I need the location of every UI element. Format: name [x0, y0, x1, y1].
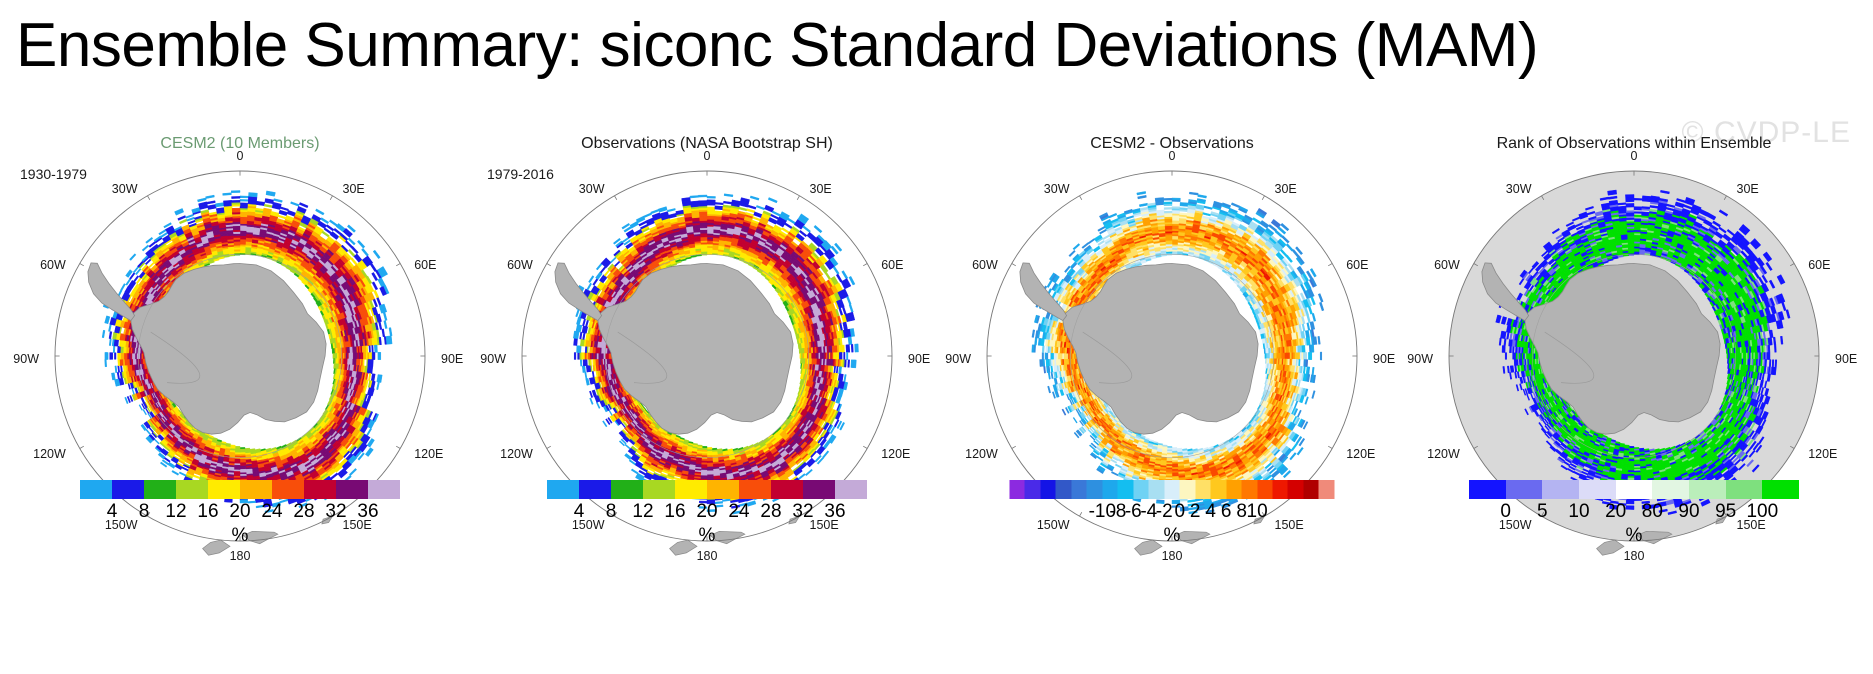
longitude-label: 90E — [441, 352, 463, 366]
longitude-label: 0 — [1169, 149, 1176, 163]
longitude-label: 120E — [1808, 447, 1837, 461]
longitude-label: 90E — [1373, 352, 1395, 366]
graticule-tick — [148, 196, 150, 200]
colorbar-segment — [1257, 480, 1272, 499]
colorbar-segment — [739, 480, 771, 499]
panel-cesm2: CESM2 (10 Members) 1930-1979 030E60E90E1… — [6, 128, 474, 668]
colorbar-segment — [1726, 480, 1763, 499]
graticule-tick — [547, 264, 551, 266]
colorbar-segment — [1506, 480, 1543, 499]
colorbar-segment — [1164, 480, 1179, 499]
colorbar-tick: 100 — [1746, 501, 1778, 523]
colorbar-segment — [1652, 480, 1689, 499]
graticule-tick — [396, 264, 400, 266]
colorbar-segment — [1118, 480, 1133, 499]
colorbar-tick: -4 — [1140, 501, 1157, 523]
colorbar-segment — [1288, 480, 1303, 499]
colorbar-strip — [80, 480, 400, 499]
colorbar-tick: 5 — [1537, 501, 1548, 523]
longitude-label: 0 — [237, 149, 244, 163]
colorbar-tick: -8 — [1109, 501, 1126, 523]
colorbar-segment — [144, 480, 176, 499]
longitude-label: 30W — [1506, 182, 1532, 196]
colorbar-tick: 90 — [1678, 501, 1699, 523]
longitude-label: 90E — [908, 352, 930, 366]
graticule-tick — [1012, 264, 1016, 266]
colorbar-segment — [1040, 480, 1055, 499]
longitude-label: 90W — [945, 352, 971, 366]
colorbar-segment — [1025, 480, 1040, 499]
graticule-tick — [547, 446, 551, 448]
colorbar-strip — [547, 480, 867, 499]
colorbar-segment — [1010, 480, 1025, 499]
colorbar-segment — [1542, 480, 1579, 499]
colorbar-segment — [579, 480, 611, 499]
colorbar-segment — [1689, 480, 1726, 499]
longitude-label: 60E — [414, 258, 436, 272]
longitude-label: 60W — [507, 258, 533, 272]
longitude-label: 120W — [500, 447, 533, 461]
longitude-label: 60W — [1434, 258, 1460, 272]
colorbar-segment — [112, 480, 144, 499]
colorbar-tick: 36 — [824, 501, 845, 523]
longitude-label: 60E — [1808, 258, 1830, 272]
colorbar-tick-labels: 4812162024283236 — [80, 501, 400, 525]
colorbar-segment — [643, 480, 675, 499]
colorbar-strip — [1010, 480, 1335, 499]
longitude-label: 120W — [1427, 447, 1460, 461]
colorbar-segment — [707, 480, 739, 499]
colorbar-tick: 10 — [1247, 501, 1268, 523]
colorbar-segment — [1762, 480, 1799, 499]
colorbar-segment — [1102, 480, 1117, 499]
colorbar-tick: 20 — [1605, 501, 1626, 523]
colorbar-tick: 28 — [293, 501, 314, 523]
graticule-tick — [80, 446, 84, 448]
colorbar-segment — [1226, 480, 1241, 499]
colorbar-tick: 8 — [606, 501, 617, 523]
colorbar-tick: 95 — [1715, 501, 1736, 523]
colorbar-segment — [272, 480, 304, 499]
longitude-label: 90W — [480, 352, 506, 366]
colorbar-segment — [1303, 480, 1318, 499]
colorbar: 4812162024283236% — [473, 480, 941, 600]
colorbar-segment — [835, 480, 867, 499]
colorbar-segment — [771, 480, 803, 499]
longitude-label: 120W — [965, 447, 998, 461]
colorbar: 4812162024283236% — [6, 480, 474, 600]
colorbar-tick: 8 — [1236, 501, 1247, 523]
colorbar-segment — [208, 480, 240, 499]
colorbar-tick: 12 — [165, 501, 186, 523]
colorbar-tick: 0 — [1174, 501, 1185, 523]
graticule-tick — [1080, 196, 1082, 200]
colorbar-tick: 36 — [357, 501, 378, 523]
longitude-label: 120E — [1346, 447, 1375, 461]
longitude-label: 30W — [579, 182, 605, 196]
longitude-label: 90W — [1407, 352, 1433, 366]
colorbar-segment — [176, 480, 208, 499]
graticule-tick — [80, 264, 84, 266]
colorbar-tick: 0 — [1500, 501, 1511, 523]
graticule-tick — [396, 446, 400, 448]
colorbar-tick: 12 — [632, 501, 653, 523]
colorbar-tick-labels: -10-8-6-4-20246810 — [1010, 501, 1335, 525]
graticule-tick — [863, 264, 867, 266]
colorbar-unit-label: % — [699, 525, 716, 547]
colorbar-unit-label: % — [1626, 525, 1643, 547]
colorbar: 051020809095100% — [1400, 480, 1868, 600]
colorbar-segment — [1469, 480, 1506, 499]
colorbar-tick-labels: 4812162024283236 — [547, 501, 867, 525]
colorbar-tick: 4 — [1205, 501, 1216, 523]
longitude-label: 90E — [1835, 352, 1857, 366]
colorbar-segment — [1056, 480, 1071, 499]
colorbar-tick: 16 — [197, 501, 218, 523]
colorbar-tick: 6 — [1221, 501, 1232, 523]
graticule-tick — [615, 196, 617, 200]
colorbar-segment — [1272, 480, 1287, 499]
colorbar-unit-label: % — [1164, 525, 1181, 547]
colorbar-segment — [1071, 480, 1086, 499]
longitude-label: 60E — [1346, 258, 1368, 272]
colorbar-segment — [240, 480, 272, 499]
colorbar-tick: 20 — [696, 501, 717, 523]
colorbar-tick: 24 — [728, 501, 749, 523]
longitude-label: 30E — [1737, 182, 1759, 196]
colorbar-segment — [675, 480, 707, 499]
colorbar-tick: 28 — [760, 501, 781, 523]
colorbar-tick-labels: 051020809095100 — [1469, 501, 1799, 525]
colorbar-segment — [336, 480, 368, 499]
longitude-label: 90W — [13, 352, 39, 366]
colorbar-segment — [80, 480, 112, 499]
panel-observations: Observations (NASA Bootstrap SH) 1979-20… — [473, 128, 941, 668]
panel-rank: Rank of Observations within Ensemble 030… — [1400, 128, 1868, 668]
longitude-label: 120E — [881, 447, 910, 461]
graticule-tick — [1328, 446, 1332, 448]
colorbar-tick: -6 — [1125, 501, 1142, 523]
graticule-tick — [1262, 196, 1264, 200]
graticule-tick — [797, 196, 799, 200]
colorbar-tick: 10 — [1568, 501, 1589, 523]
longitude-label: 60W — [972, 258, 998, 272]
longitude-label: 30W — [1044, 182, 1070, 196]
graticule-tick — [330, 196, 332, 200]
colorbar-segment — [611, 480, 643, 499]
colorbar-segment — [1180, 480, 1195, 499]
colorbar-segment — [1133, 480, 1148, 499]
colorbar-tick: 4 — [107, 501, 118, 523]
longitude-label: 30E — [810, 182, 832, 196]
panel-difference: CESM2 - Observations 030E60E90E120E150E1… — [938, 128, 1406, 668]
longitude-label: 60W — [40, 258, 66, 272]
longitude-label: 0 — [1631, 149, 1638, 163]
longitude-label: 30W — [112, 182, 138, 196]
colorbar-tick: 20 — [229, 501, 250, 523]
colorbar-segment — [1579, 480, 1616, 499]
graticule-tick — [1328, 264, 1332, 266]
colorbar-tick: 32 — [792, 501, 813, 523]
longitude-label: 60E — [881, 258, 903, 272]
colorbar-tick: 32 — [325, 501, 346, 523]
colorbar-segment — [803, 480, 835, 499]
colorbar-tick: 4 — [574, 501, 585, 523]
colorbar-segment — [547, 480, 579, 499]
colorbar-segment — [1211, 480, 1226, 499]
longitude-label: 30E — [1275, 182, 1297, 196]
colorbar-segment — [1195, 480, 1210, 499]
colorbar-unit-label: % — [232, 525, 249, 547]
longitude-label: 0 — [704, 149, 711, 163]
longitude-label: 120E — [414, 447, 443, 461]
colorbar-strip — [1469, 480, 1799, 499]
colorbar-tick: 80 — [1642, 501, 1663, 523]
graticule-tick — [1012, 446, 1016, 448]
colorbar-tick: 2 — [1190, 501, 1201, 523]
longitude-label: 120W — [33, 447, 66, 461]
page-title: Ensemble Summary: siconc Standard Deviat… — [16, 10, 1866, 81]
colorbar-segment — [304, 480, 336, 499]
colorbar-tick: 24 — [261, 501, 282, 523]
graticule-tick — [863, 446, 867, 448]
colorbar-tick: -2 — [1156, 501, 1173, 523]
colorbar: -10-8-6-4-20246810% — [938, 480, 1406, 600]
colorbar-segment — [1319, 480, 1334, 499]
colorbar-segment — [1149, 480, 1164, 499]
colorbar-segment — [1616, 480, 1653, 499]
figure-canvas: Ensemble Summary: siconc Standard Deviat… — [0, 0, 1873, 674]
colorbar-segment — [1087, 480, 1102, 499]
longitude-label: 30E — [343, 182, 365, 196]
colorbar-segment — [1242, 480, 1257, 499]
colorbar-tick: 16 — [664, 501, 685, 523]
colorbar-segment — [368, 480, 400, 499]
colorbar-tick: 8 — [139, 501, 150, 523]
